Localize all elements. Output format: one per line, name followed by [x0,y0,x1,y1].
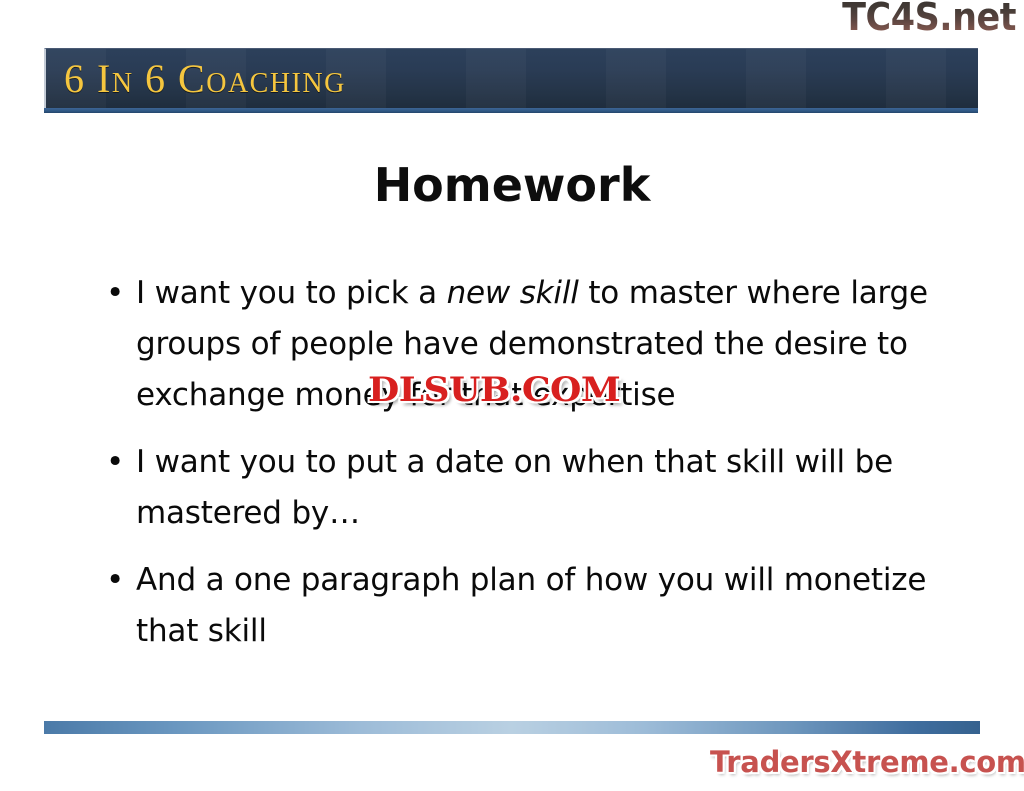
bullet-marker-icon: • [106,437,124,488]
bullet-marker-icon: • [106,555,124,606]
list-item: • I want you to put a date on when that … [100,437,960,539]
list-item: • I want you to pick a new skill to mast… [100,268,960,421]
slide-canvas: TC4S.net 6 In 6 Coaching Homework • I wa… [0,0,1024,791]
header-banner-title: 6 In 6 Coaching [46,49,978,102]
header-banner-underline [44,108,978,113]
list-item: • And a one paragraph plan of how you wi… [100,555,960,657]
list-item-text-part: And a one paragraph plan of how you will… [136,562,926,649]
page-title: Homework [0,158,1024,212]
site-watermark-tc4s: TC4S.net [842,0,1016,36]
bullet-marker-icon: • [106,268,124,319]
list-item-text-part: I want you to pick a [136,275,447,311]
list-item-emphasis: new skill [447,275,579,311]
header-banner: 6 In 6 Coaching [44,48,978,108]
list-item-text-part: I want you to put a date on when that sk… [136,444,893,531]
bullet-list: • I want you to pick a new skill to mast… [100,268,960,673]
footer-divider-bar [44,721,980,734]
footer-brand-tradersxtreme: TradersXtreme.com [710,744,1024,780]
